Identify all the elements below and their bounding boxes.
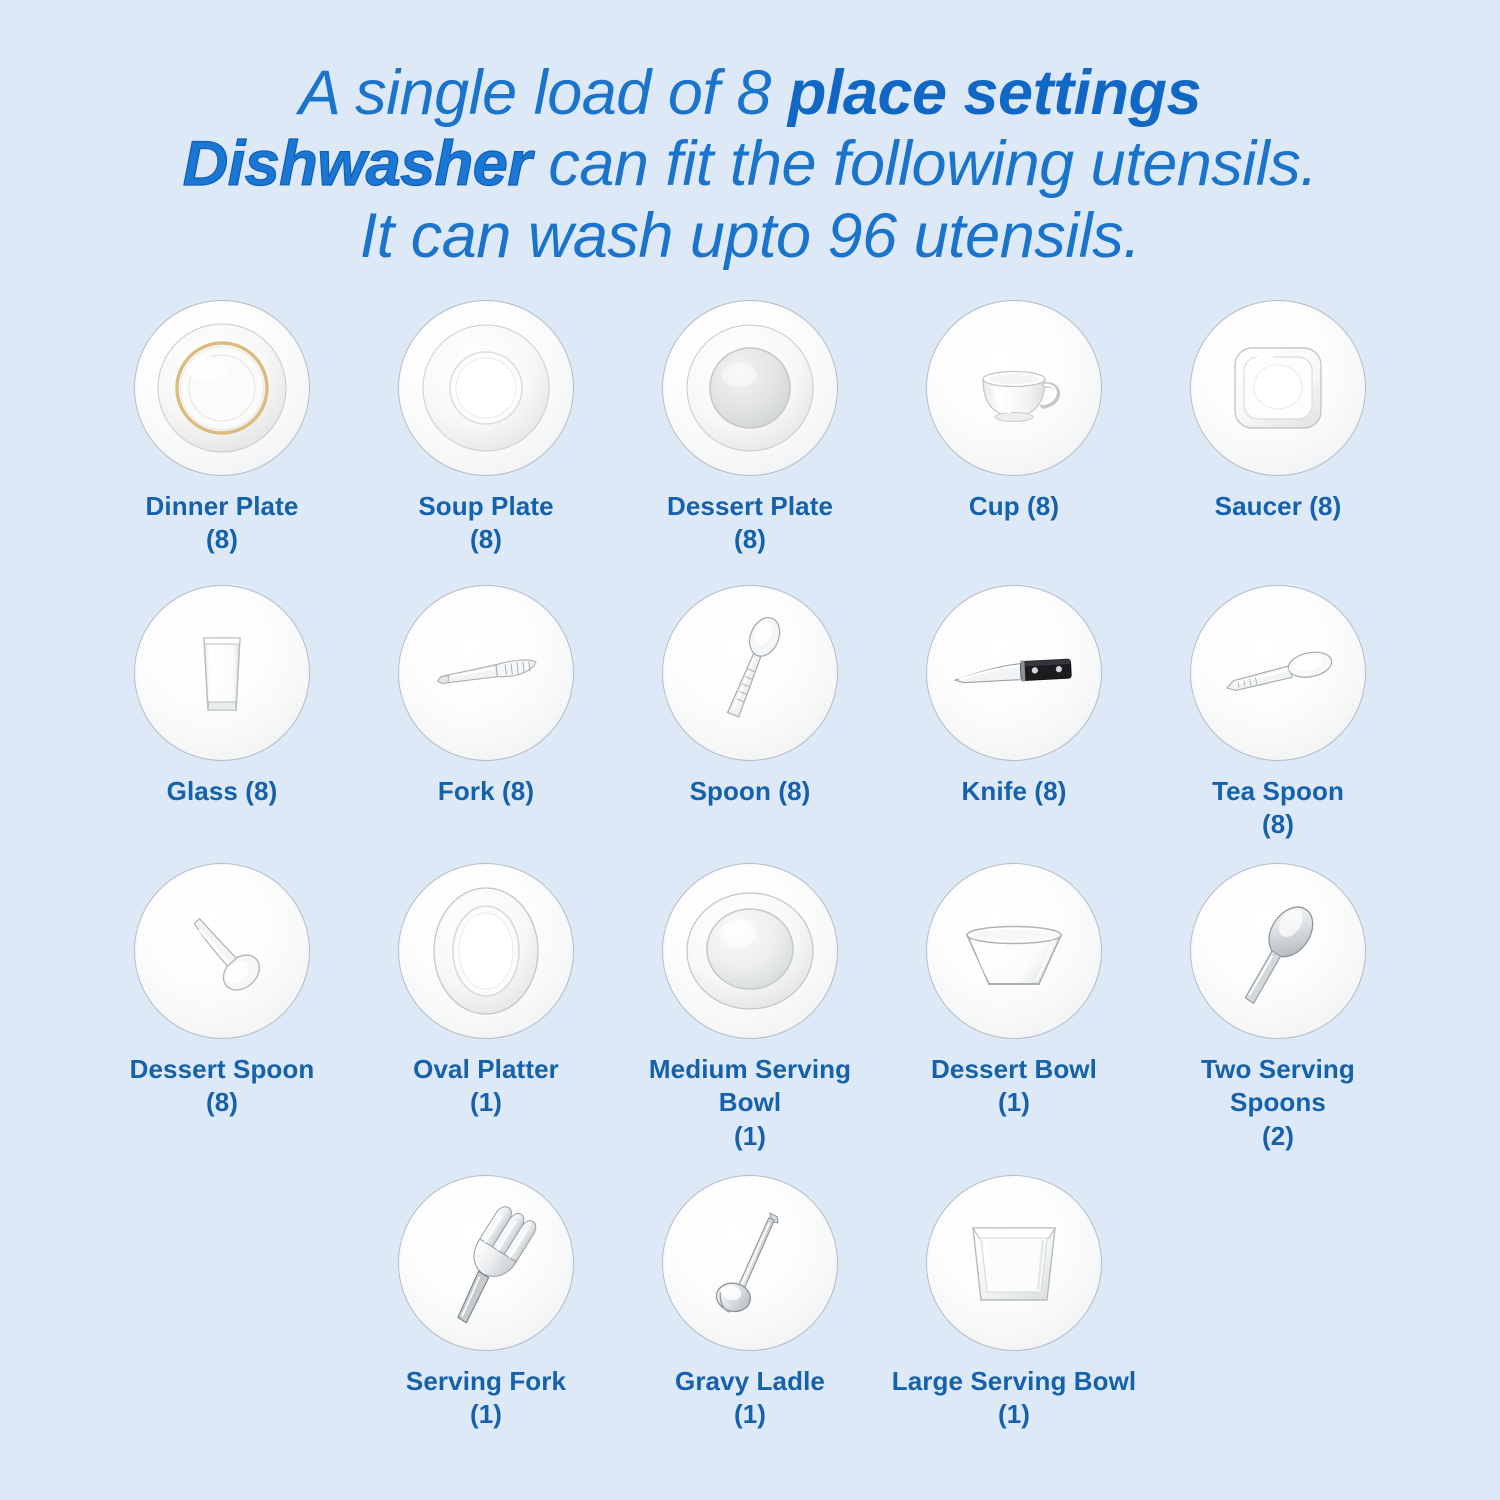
headline-line-3: It can wash upto 96 utensils. <box>55 201 1445 272</box>
medallion <box>926 585 1102 761</box>
saucer-icon <box>1203 313 1353 463</box>
oval-platter-icon <box>411 876 561 1026</box>
utensil-count: (8) <box>245 776 277 806</box>
medallion <box>134 863 310 1039</box>
medallion <box>926 1175 1102 1351</box>
dessert-plate-icon <box>675 313 825 463</box>
utensil-label: Tea Spoon <box>1212 776 1344 806</box>
utensil-caption: Tea Spoon (8) <box>1153 775 1403 842</box>
medallion <box>662 863 838 1039</box>
utensil-item-large-serving-bowl[interactable]: Large Serving Bowl (1) <box>882 1175 1146 1432</box>
utensil-item-saucer[interactable]: Saucer (8) <box>1146 300 1410 523</box>
utensil-label: Large Serving Bowl <box>892 1366 1137 1396</box>
medallion <box>662 300 838 476</box>
utensil-label: Two Serving Spoons <box>1201 1054 1355 1117</box>
utensil-caption: Knife (8) <box>889 775 1139 808</box>
utensil-caption: Large Serving Bowl (1) <box>889 1365 1139 1432</box>
utensil-item-oval-platter[interactable]: Oval Platter (1) <box>354 863 618 1120</box>
serving-fork-icon <box>411 1188 561 1338</box>
utensil-label: Medium Serving Bowl <box>649 1054 851 1117</box>
utensil-label: Spoon <box>690 776 771 806</box>
utensil-count: (1) <box>361 1086 611 1119</box>
utensil-count: (1) <box>361 1398 611 1431</box>
utensil-count: (8) <box>361 523 611 556</box>
infographic-page: A single load of 8 place settings Dishwa… <box>0 0 1500 1500</box>
medallion <box>926 863 1102 1039</box>
utensil-caption: Spoon (8) <box>625 775 875 808</box>
utensil-label: Saucer <box>1215 491 1302 521</box>
gravy-ladle-icon <box>675 1188 825 1338</box>
medallion <box>398 1175 574 1351</box>
utensil-label: Knife <box>962 776 1028 806</box>
medallion <box>398 300 574 476</box>
utensil-caption: Saucer (8) <box>1153 490 1403 523</box>
utensil-caption: Gravy Ladle (1) <box>625 1365 875 1432</box>
knife-icon <box>939 598 1089 748</box>
two-serving-spoons-icon <box>1203 876 1353 1026</box>
utensil-item-soup-plate[interactable]: Soup Plate (8) <box>354 300 618 557</box>
utensil-item-two-serving-spoons[interactable]: Two Serving Spoons (2) <box>1146 863 1410 1153</box>
utensil-item-fork[interactable]: Fork (8) <box>354 585 618 808</box>
utensil-count: (2) <box>1153 1120 1403 1153</box>
utensil-row: Dinner Plate (8) <box>0 300 1500 557</box>
utensil-label: Cup <box>969 491 1020 521</box>
headline-text-a: A single load of 8 <box>299 58 788 128</box>
utensil-row: Glass (8) <box>0 585 1500 842</box>
utensil-label: Glass <box>167 776 238 806</box>
utensil-item-spoon[interactable]: Spoon (8) <box>618 585 882 808</box>
glass-icon <box>147 598 297 748</box>
utensil-count: (1) <box>625 1120 875 1153</box>
medallion <box>134 585 310 761</box>
medallion <box>398 585 574 761</box>
medium-serving-bowl-icon <box>675 876 825 1026</box>
utensil-count: (8) <box>1027 491 1059 521</box>
utensil-caption: Two Serving Spoons (2) <box>1153 1053 1403 1153</box>
fork-icon <box>411 598 561 748</box>
headline-text-b: can fit the following utensils. <box>531 129 1317 199</box>
utensil-label: Gravy Ladle <box>675 1366 825 1396</box>
spoon-icon <box>675 598 825 748</box>
utensil-caption: Dinner Plate (8) <box>97 490 347 557</box>
utensil-caption: Dessert Bowl (1) <box>889 1053 1139 1120</box>
utensil-item-serving-fork[interactable]: Serving Fork (1) <box>354 1175 618 1432</box>
utensil-item-dessert-bowl[interactable]: Dessert Bowl (1) <box>882 863 1146 1120</box>
utensil-caption: Soup Plate (8) <box>361 490 611 557</box>
utensil-row: Serving Fork (1) <box>0 1175 1500 1432</box>
utensil-count: (1) <box>889 1398 1139 1431</box>
utensil-label: Dessert Plate <box>667 491 833 521</box>
medallion <box>398 863 574 1039</box>
utensil-caption: Medium Serving Bowl (1) <box>625 1053 875 1153</box>
utensil-count: (8) <box>625 523 875 556</box>
headline-line-2: Dishwasher can fit the following utensil… <box>55 129 1445 200</box>
utensil-caption: Serving Fork (1) <box>361 1365 611 1432</box>
utensil-row: Dessert Spoon (8) <box>0 863 1500 1153</box>
utensil-grid: Dinner Plate (8) <box>0 300 1500 1431</box>
utensil-count: (8) <box>502 776 534 806</box>
utensil-count: (8) <box>97 523 347 556</box>
utensil-caption: Fork (8) <box>361 775 611 808</box>
utensil-label: Dinner Plate <box>146 491 299 521</box>
tea-spoon-icon <box>1203 598 1353 748</box>
utensil-caption: Oval Platter (1) <box>361 1053 611 1120</box>
utensil-label: Soup Plate <box>418 491 553 521</box>
headline-emphasis-place-settings: place settings <box>788 58 1201 128</box>
utensil-label: Dessert Bowl <box>931 1054 1097 1084</box>
utensil-caption: Cup (8) <box>889 490 1139 523</box>
utensil-item-gravy-ladle[interactable]: Gravy Ladle (1) <box>618 1175 882 1432</box>
page-title: A single load of 8 place settings Dishwa… <box>0 58 1500 272</box>
medallion <box>662 585 838 761</box>
utensil-caption: Dessert Plate (8) <box>625 490 875 557</box>
large-serving-bowl-icon <box>939 1188 1089 1338</box>
utensil-item-dessert-spoon[interactable]: Dessert Spoon (8) <box>90 863 354 1120</box>
utensil-item-dinner-plate[interactable]: Dinner Plate (8) <box>90 300 354 557</box>
cup-icon <box>939 313 1089 463</box>
utensil-count: (8) <box>1309 491 1341 521</box>
utensil-count: (8) <box>97 1086 347 1119</box>
medallion <box>134 300 310 476</box>
utensil-label: Dessert Spoon <box>130 1054 315 1084</box>
medallion <box>926 300 1102 476</box>
utensil-item-glass[interactable]: Glass (8) <box>90 585 354 808</box>
dessert-bowl-icon <box>939 876 1089 1026</box>
headline-emphasis-dishwasher: Dishwasher <box>183 129 532 199</box>
soup-plate-icon <box>411 313 561 463</box>
utensil-label: Oval Platter <box>413 1054 559 1084</box>
medallion <box>1190 863 1366 1039</box>
dessert-spoon-icon <box>147 876 297 1026</box>
utensil-caption: Glass (8) <box>97 775 347 808</box>
utensil-label: Serving Fork <box>406 1366 566 1396</box>
utensil-count: (1) <box>889 1086 1139 1119</box>
utensil-item-tea-spoon[interactable]: Tea Spoon (8) <box>1146 585 1410 842</box>
headline-line-1: A single load of 8 place settings <box>55 58 1445 129</box>
utensil-count: (8) <box>1153 808 1403 841</box>
utensil-item-knife[interactable]: Knife (8) <box>882 585 1146 808</box>
medallion <box>1190 300 1366 476</box>
medallion <box>1190 585 1366 761</box>
utensil-item-cup[interactable]: Cup (8) <box>882 300 1146 523</box>
utensil-count: (8) <box>778 776 810 806</box>
utensil-count: (8) <box>1034 776 1066 806</box>
utensil-count: (1) <box>625 1398 875 1431</box>
utensil-caption: Dessert Spoon (8) <box>97 1053 347 1120</box>
utensil-item-medium-serving-bowl[interactable]: Medium Serving Bowl (1) <box>618 863 882 1153</box>
utensil-item-dessert-plate[interactable]: Dessert Plate (8) <box>618 300 882 557</box>
utensil-label: Fork <box>438 776 495 806</box>
dinner-plate-icon <box>147 313 297 463</box>
medallion <box>662 1175 838 1351</box>
